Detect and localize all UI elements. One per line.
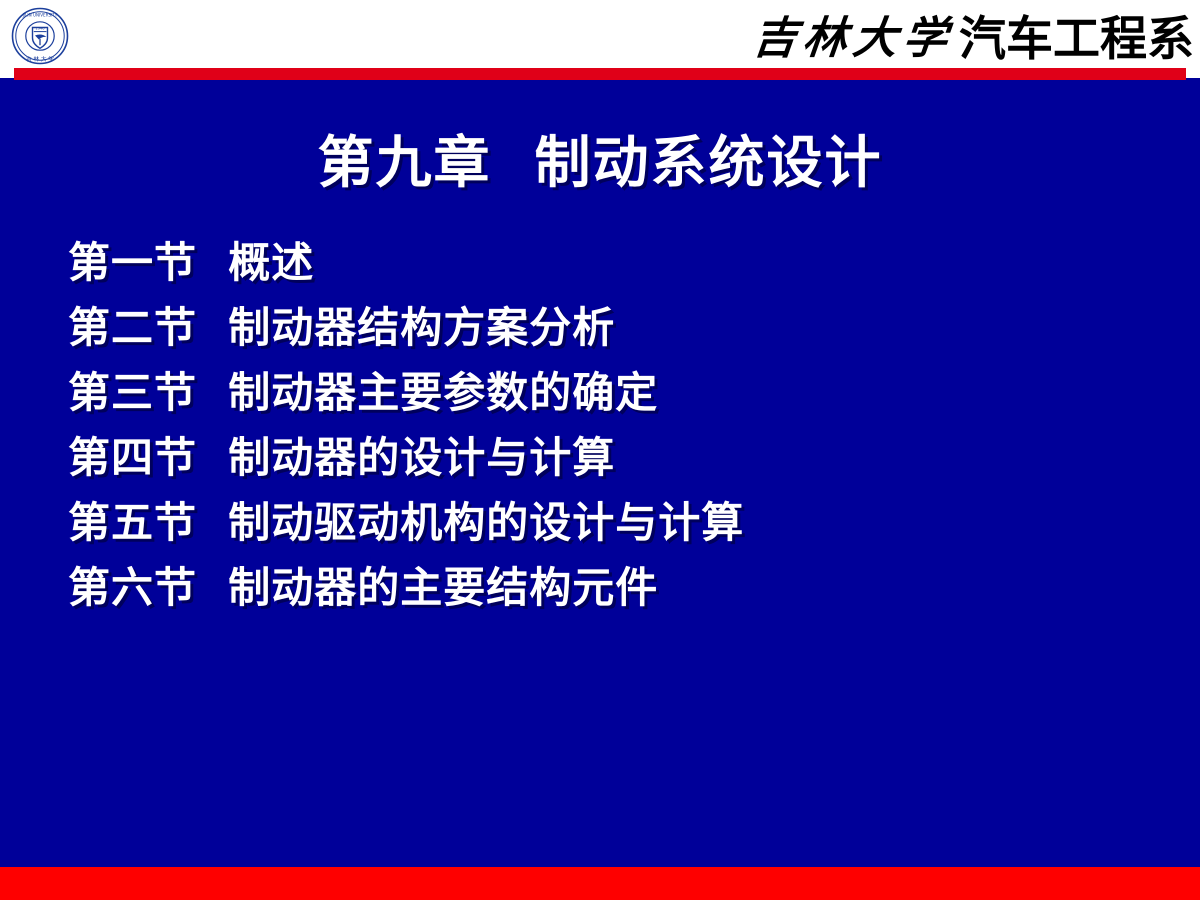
section-item-1: 第一节 概述 xyxy=(68,230,1168,295)
university-seal-icon: JILIN UNIVERSITY 吉 林 大 学 1946 xyxy=(11,7,69,65)
section-list: 第一节 概述 第二节 制动器结构方案分析 第三节 制动器主要参数的确定 第四节 … xyxy=(68,230,1168,620)
section-item-6: 第六节 制动器的主要结构元件 xyxy=(68,555,1168,620)
slide-title: 第九章 制动系统设计 xyxy=(0,133,1200,195)
footer-red-bar xyxy=(0,867,1200,900)
svg-text:JILIN UNIVERSITY: JILIN UNIVERSITY xyxy=(22,13,58,18)
svg-text:1946: 1946 xyxy=(35,26,45,30)
presentation-slide: JILIN UNIVERSITY 吉 林 大 学 1946 吉林大学 汽车工程系… xyxy=(0,0,1200,900)
section-item-2: 第二节 制动器结构方案分析 xyxy=(68,295,1168,360)
header-red-rule xyxy=(14,68,1186,80)
slide-header: JILIN UNIVERSITY 吉 林 大 学 1946 吉林大学 汽车工程系 xyxy=(0,0,1200,78)
department-title: 吉林大学 汽车工程系 xyxy=(753,6,1194,72)
department-name-bold: 汽车工程系 xyxy=(959,16,1194,63)
section-item-5: 第五节 制动驱动机构的设计与计算 xyxy=(68,490,1168,555)
section-item-3: 第三节 制动器主要参数的确定 xyxy=(68,360,1168,425)
svg-text:吉 林 大 学: 吉 林 大 学 xyxy=(26,55,54,63)
section-item-4: 第四节 制动器的设计与计算 xyxy=(68,425,1168,490)
university-name-calligraphy: 吉林大学 xyxy=(751,17,962,61)
